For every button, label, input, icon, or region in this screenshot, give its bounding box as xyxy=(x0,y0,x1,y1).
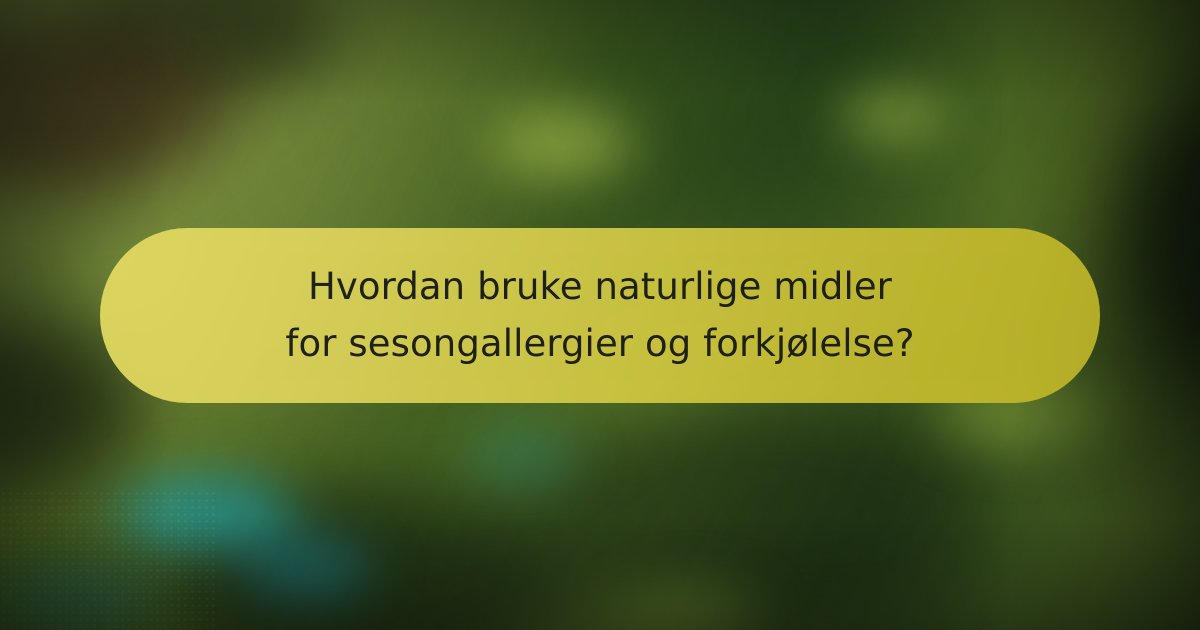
page-title: Hvordan bruke naturlige midler for seson… xyxy=(280,259,920,371)
title-banner: Hvordan bruke naturlige midler for seson… xyxy=(100,228,1100,403)
social-card: Hvordan bruke naturlige midler for seson… xyxy=(0,0,1200,630)
